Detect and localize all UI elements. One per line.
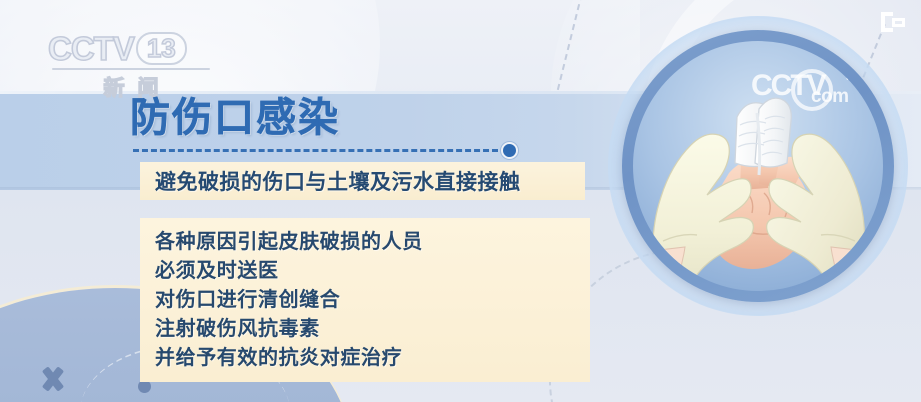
logo-divider bbox=[52, 68, 210, 70]
body-text-panel: 各种原因引起皮肤破损的人员 必须及时送医 对伤口进行清创缝合 注射破伤风抗毒素 … bbox=[140, 218, 590, 382]
logo-cctv-text: CCTV bbox=[48, 32, 134, 65]
page-title: 防伤口感染 bbox=[130, 98, 340, 138]
body-line: 注射破伤风抗毒素 bbox=[140, 314, 590, 343]
news-graphic-stage: CCTV 13 新闻 防伤口感染 避免破损的伤口与土壤及污水直接接触 各种原因引… bbox=[0, 0, 921, 402]
timeline-end-dot-icon bbox=[501, 142, 518, 159]
body-line: 并给予有效的抗炎对症治疗 bbox=[140, 343, 590, 372]
subtitle-text: 避免破损的伤口与土壤及污水直接接触 bbox=[140, 166, 521, 196]
illustration-circle: CCTV com 央视网 bbox=[608, 16, 908, 316]
logo-channel-number: 13 bbox=[136, 32, 187, 65]
corner-bracket-icon bbox=[881, 12, 905, 32]
body-line: 必须及时送医 bbox=[140, 256, 590, 285]
dashed-rule-line bbox=[133, 149, 498, 152]
corner-bracket-right bbox=[892, 18, 905, 27]
cctv13-logo: CCTV 13 新闻 bbox=[48, 32, 214, 102]
logo-main-row: CCTV 13 bbox=[48, 32, 214, 65]
body-line: 各种原因引起皮肤破损的人员 bbox=[140, 227, 590, 256]
circle-image-area: CCTV com 央视网 bbox=[633, 41, 883, 291]
body-line: 对伤口进行清创缝合 bbox=[140, 285, 590, 314]
subtitle-banner: 避免破损的伤口与土壤及污水直接接触 bbox=[140, 162, 585, 200]
plus-mark-icon bbox=[40, 366, 66, 392]
bandaging-hands-illustration bbox=[633, 41, 883, 291]
title-dashed-rule bbox=[133, 146, 518, 154]
